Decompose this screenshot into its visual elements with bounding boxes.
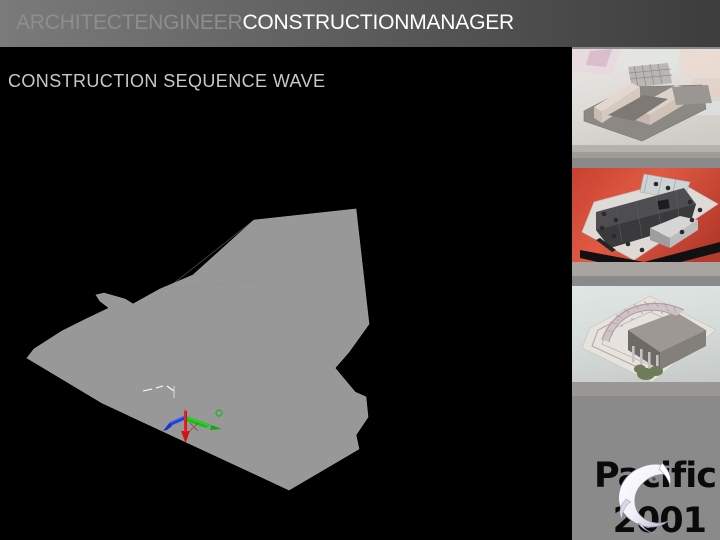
brand-year: 2001 [572,504,720,539]
event-branding: Pacific 2001 [572,407,720,540]
slide-subtitle: CONSTRUCTION SEQUENCE WAVE [8,71,325,92]
page-title: ARCHITECTENGINEERCONSTRUCTIONMANAGER [16,9,514,37]
header-bar: ARCHITECTENGINEERCONSTRUCTIONMANAGER [0,0,720,47]
title-dim-segment: ARCHITECTENGINEER [16,11,242,34]
thumbnail-architectural-model-dark-roof-red-backdrop[interactable] [572,168,720,276]
model-viewport[interactable] [0,105,572,540]
thumbnail-sidebar: Pacific 2001 [572,47,720,540]
thumbnail-architectural-model-arena-curved-roof[interactable] [572,286,720,396]
title-bright-segment: CONSTRUCTIONMANAGER [242,11,514,34]
presentation-slide: ARCHITECTENGINEERCONSTRUCTIONMANAGER CON… [0,0,720,540]
thumbnail-architectural-model-site-plan[interactable] [572,49,720,158]
viewport-canvas[interactable] [0,105,572,540]
brand-name: Pacific [572,459,720,494]
